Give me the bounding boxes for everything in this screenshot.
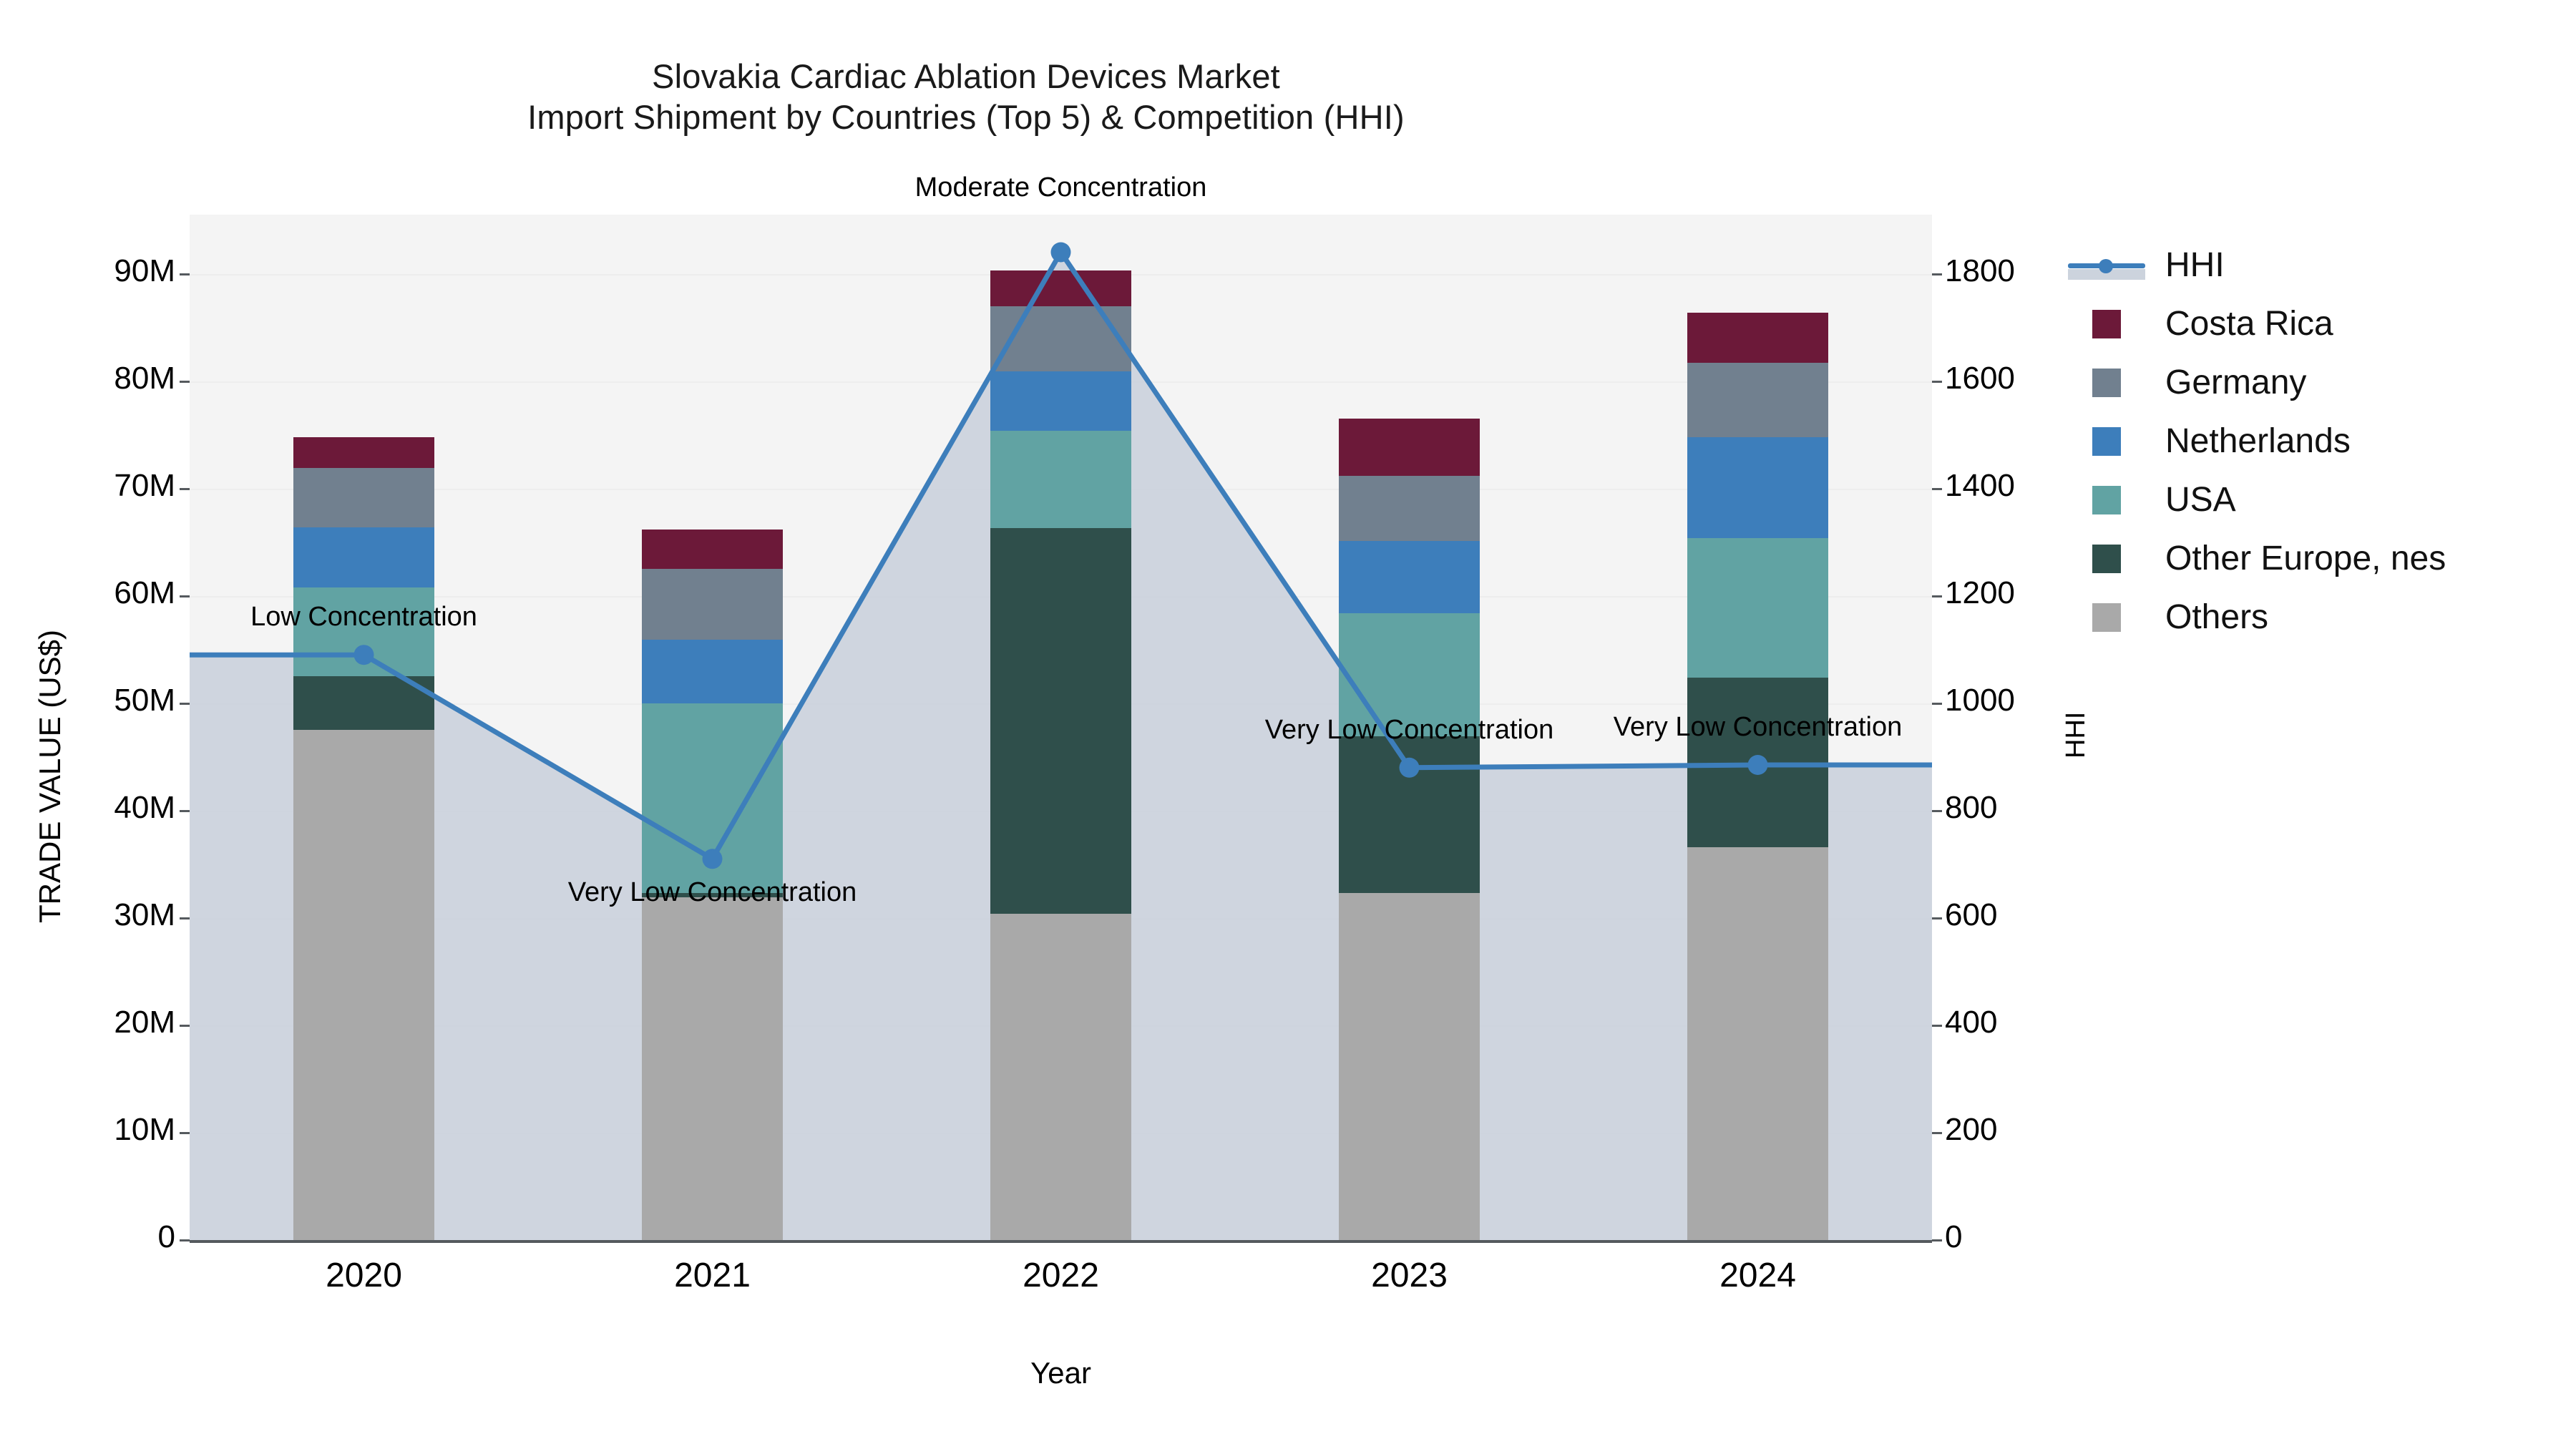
bar-segment[interactable] (293, 468, 434, 527)
legend-item-label: Netherlands (2165, 424, 2351, 459)
bar-segment[interactable] (1339, 419, 1480, 476)
legend-item-hhi[interactable]: HHI (2068, 236, 2446, 295)
y2-axis-tick-label: 800 (1945, 790, 1997, 826)
legend-swatch-icon (2092, 369, 2121, 397)
legend: HHICosta RicaGermanyNetherlandsUSAOther … (2068, 236, 2446, 647)
bar-segment[interactable] (990, 431, 1131, 529)
bar-segment[interactable] (1687, 363, 1828, 437)
bar-segment[interactable] (1687, 313, 1828, 364)
bar-segment[interactable] (1339, 476, 1480, 542)
bar-segment[interactable] (1339, 736, 1480, 893)
y-axis-tick (180, 595, 190, 597)
y2-axis-tick-label: 400 (1945, 1005, 1997, 1040)
bar-segment[interactable] (990, 528, 1131, 914)
legend-item-label: Other Europe, nes (2165, 542, 2446, 576)
y2-axis-tick-label: 0 (1945, 1219, 1962, 1255)
y-axis-tick (180, 1239, 190, 1241)
y-axis-tick (180, 488, 190, 490)
bar-segment[interactable] (293, 676, 434, 730)
y2-axis-tick-label: 1400 (1945, 468, 2015, 504)
bar-segment[interactable] (990, 306, 1131, 372)
x-axis-title: Year (190, 1356, 1932, 1390)
y2-axis-tick (1932, 1132, 1942, 1134)
y2-axis-tick-label: 1800 (1945, 253, 2015, 289)
bar-segment[interactable] (1687, 538, 1828, 678)
bar-segment[interactable] (1339, 541, 1480, 613)
x-axis-tick-label: 2023 (1295, 1256, 1524, 1295)
bar-segment[interactable] (990, 914, 1131, 1240)
legend-item-others[interactable]: Others (2068, 588, 2446, 647)
x-axis-tick-label: 2022 (947, 1256, 1176, 1295)
bar-segment[interactable] (1687, 437, 1828, 538)
hhi-annotation-label: Low Concentration (78, 602, 650, 633)
bar-segment[interactable] (642, 897, 783, 1240)
legend-item-costa-rica[interactable]: Costa Rica (2068, 295, 2446, 353)
x-axis-tick-label: 2024 (1644, 1256, 1873, 1295)
bar-segment[interactable] (990, 270, 1131, 306)
legend-item-label: HHI (2165, 248, 2225, 283)
y-axis-tick (180, 1132, 190, 1134)
y2-axis-title: HHI (2061, 712, 2092, 758)
y2-axis-tick-label: 600 (1945, 897, 1997, 933)
y-axis-tick-label: 20M (43, 1005, 175, 1040)
chart-title-block: Slovakia Cardiac Ablation Devices Market… (0, 56, 1932, 138)
bar-segment[interactable] (642, 530, 783, 570)
legend-item-germany[interactable]: Germany (2068, 353, 2446, 412)
y-axis-tick-label: 80M (43, 361, 175, 396)
y-axis-tick-label: 0 (43, 1219, 175, 1255)
y-axis-tick-label: 10M (43, 1112, 175, 1148)
x-axis-tick-label: 2021 (598, 1256, 827, 1295)
y-axis-title: TRADE VALUE (US$) (33, 630, 67, 923)
legend-item-other-europe-nes[interactable]: Other Europe, nes (2068, 530, 2446, 588)
legend-item-label: Others (2165, 600, 2268, 635)
y2-axis-tick-label: 1600 (1945, 361, 2015, 396)
legend-item-label: Germany (2165, 366, 2306, 400)
y2-axis-tick (1932, 810, 1942, 812)
bar-segment[interactable] (642, 703, 783, 894)
y2-axis-tick (1932, 273, 1942, 275)
hhi-annotation-label: Very Low Concentration (426, 877, 999, 908)
x-axis-line (190, 1240, 1932, 1243)
y2-axis-tick-label: 1200 (1945, 575, 2015, 611)
y-axis-tick (180, 917, 190, 919)
page-title: Slovakia Cardiac Ablation Devices Market (0, 56, 1932, 97)
bar-segment[interactable] (642, 640, 783, 703)
bar-segment[interactable] (293, 730, 434, 1240)
y2-axis-tick (1932, 381, 1942, 383)
y-axis-tick (180, 273, 190, 275)
y-axis-tick-label: 70M (43, 468, 175, 504)
legend-item-label: Costa Rica (2165, 307, 2333, 341)
legend-line-icon (2068, 251, 2145, 280)
x-axis-tick-label: 2020 (250, 1256, 479, 1295)
chart-subtitle: Import Shipment by Countries (Top 5) & C… (0, 97, 1932, 137)
bar-segment[interactable] (1339, 893, 1480, 1240)
legend-swatch-icon (2092, 486, 2121, 514)
legend-swatch-icon (2092, 427, 2121, 456)
y-axis-tick (180, 1025, 190, 1027)
y2-axis-tick (1932, 1239, 1942, 1241)
y2-axis-tick (1932, 703, 1942, 705)
y-axis-tick (180, 810, 190, 812)
hhi-annotation-label: Moderate Concentration (775, 172, 1347, 203)
bar-segment[interactable] (642, 569, 783, 640)
y2-axis-tick (1932, 1025, 1942, 1027)
y-axis-tick-label: 90M (43, 253, 175, 289)
y2-axis-tick (1932, 595, 1942, 597)
bar-segment[interactable] (990, 371, 1131, 431)
legend-swatch-icon (2092, 310, 2121, 338)
legend-item-netherlands[interactable]: Netherlands (2068, 412, 2446, 471)
legend-swatch-icon (2092, 545, 2121, 573)
legend-item-label: USA (2165, 483, 2236, 517)
legend-item-usa[interactable]: USA (2068, 471, 2446, 530)
y-axis-tick (180, 703, 190, 705)
legend-swatch-icon (2092, 603, 2121, 632)
bar-segment[interactable] (293, 527, 434, 587)
bar-segment[interactable] (293, 437, 434, 469)
chart-canvas: Slovakia Cardiac Ablation Devices Market… (0, 0, 2576, 1449)
bar-segment[interactable] (1687, 847, 1828, 1240)
bar-segment[interactable] (1687, 678, 1828, 847)
y2-axis-tick (1932, 488, 1942, 490)
y2-axis-tick (1932, 917, 1942, 919)
y-axis-tick (180, 381, 190, 383)
y2-axis-tick-label: 200 (1945, 1112, 1997, 1148)
hhi-annotation-label: Very Low Concentration (1472, 712, 2044, 743)
